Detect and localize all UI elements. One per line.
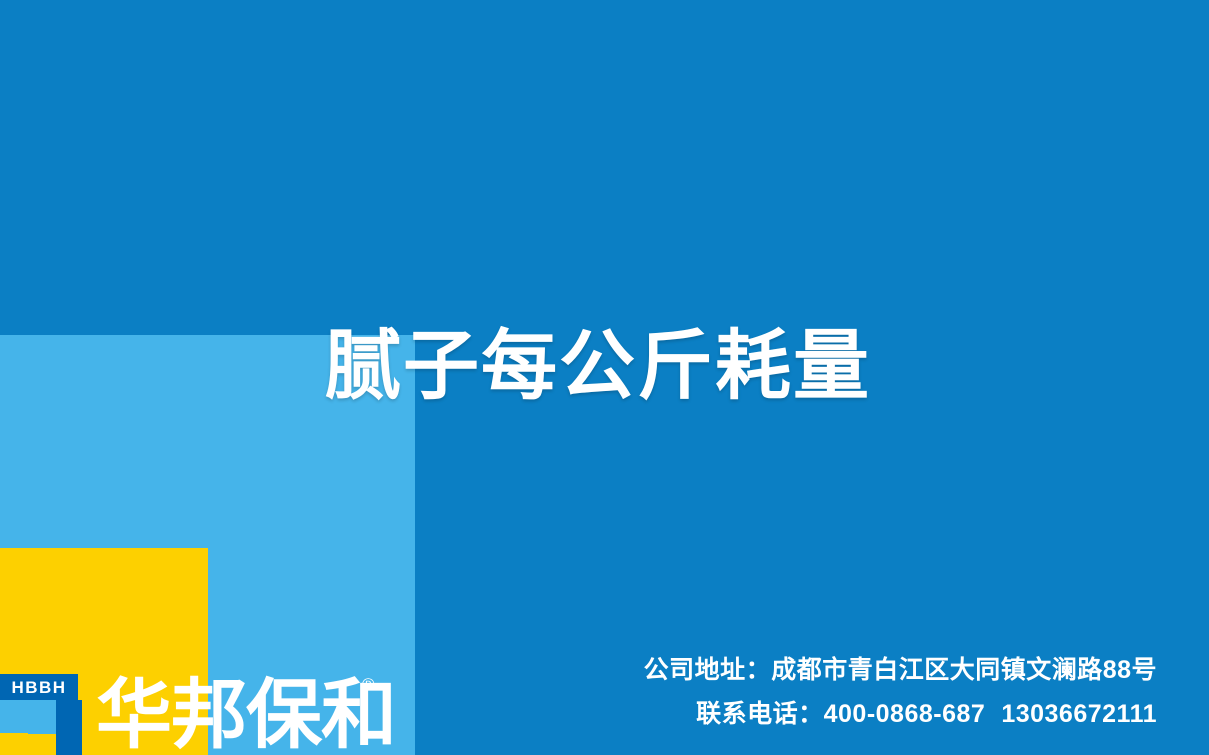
logo-mark-icon: HBBH	[0, 660, 82, 755]
presentation-slide: 腻子每公斤耗量 HBBH 华邦保和 ® 公司地址：成都市青白江区大同镇文澜路88…	[0, 0, 1209, 755]
contact-address-label: 公司地址：	[644, 656, 772, 684]
company-logo: HBBH 华邦保和 ®	[0, 660, 415, 755]
contact-phone-label: 联系电话：	[696, 700, 824, 728]
contact-address-line: 公司地址：成都市青白江区大同镇文澜路88号	[644, 648, 1157, 692]
logo-wordmark: 华邦保和	[96, 678, 396, 754]
contact-phone-line: 联系电话：400-0868-68713036672111	[644, 692, 1157, 736]
logo-shape-stem	[56, 700, 82, 755]
contact-phone-primary: 400-0868-687	[824, 700, 986, 728]
slide-title: 腻子每公斤耗量	[325, 322, 895, 412]
registered-trademark-icon: ®	[362, 676, 375, 693]
logo-shape-blue	[0, 700, 56, 734]
logo-badge-hbbh: HBBH	[0, 674, 78, 702]
contact-phone-secondary: 13036672111	[1001, 700, 1157, 728]
logo-shape-yellow	[0, 733, 28, 755]
contact-info: 公司地址：成都市青白江区大同镇文澜路88号 联系电话：400-0868-6871…	[644, 648, 1157, 736]
contact-address-value: 成都市青白江区大同镇文澜路88号	[771, 656, 1157, 684]
